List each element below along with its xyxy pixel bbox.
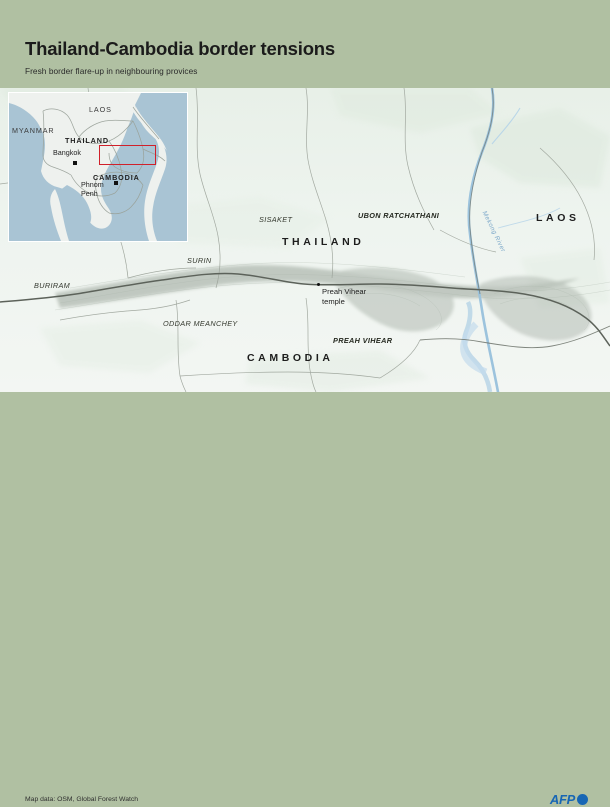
inset-locator-map[interactable]: MYANMAR LAOS THAILAND CAMBODIA Bangkok P… (8, 92, 188, 242)
map-credit: Map data: OSM, Global Forest Watch (25, 796, 138, 803)
inset-highlight-box (99, 145, 156, 165)
afp-dot-icon (577, 794, 588, 805)
page-subtitle: Fresh border flare-up in neighbouring pr… (25, 66, 197, 76)
page-title: Thailand-Cambodia border tensions (25, 38, 335, 60)
afp-wordmark: AFP (550, 792, 575, 807)
header-bar: Thailand-Cambodia border tensions Fresh … (0, 0, 610, 88)
infographic-root: Thailand-Cambodia border tensions Fresh … (0, 0, 610, 438)
footer-bar: Map data: OSM, Global Forest Watch AFP (0, 392, 610, 438)
inset-marker-phnom-penh (114, 181, 118, 185)
inset-map-graphics (9, 93, 187, 241)
inset-marker-bangkok (73, 161, 77, 165)
afp-logo: AFP (550, 792, 588, 807)
